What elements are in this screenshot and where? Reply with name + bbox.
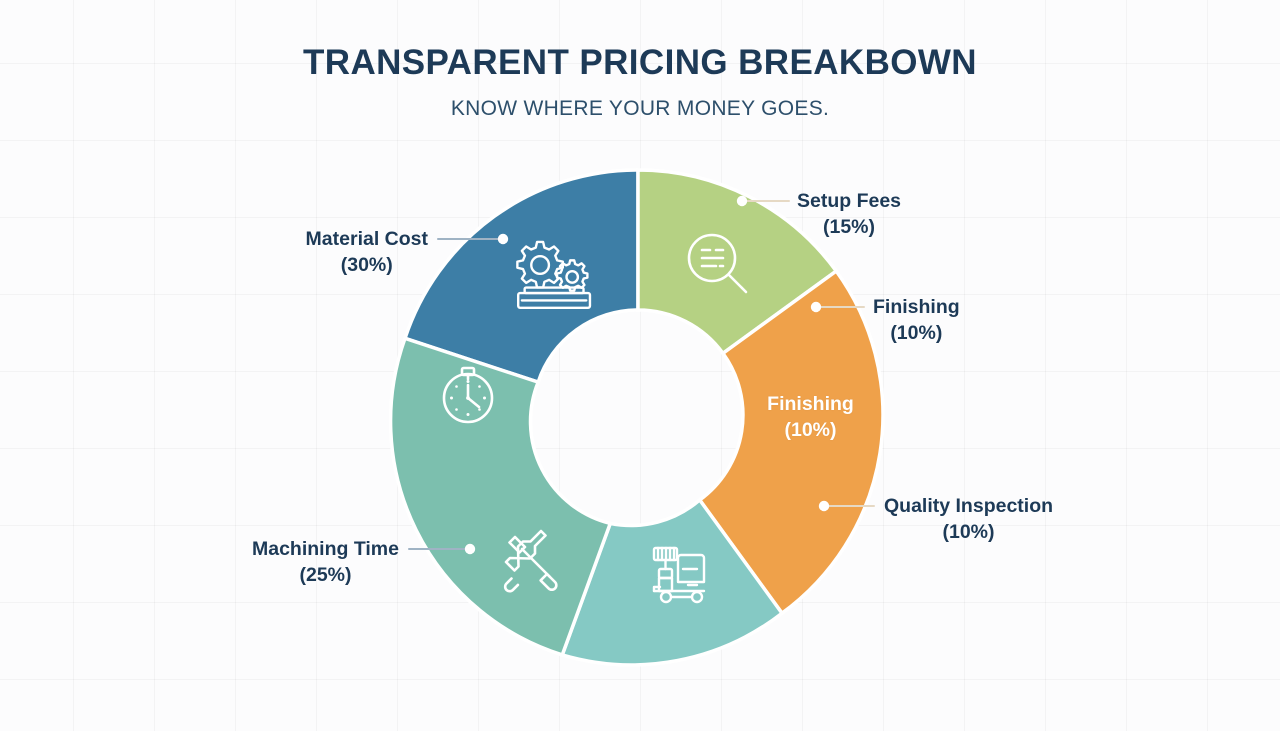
label-machining-time-name: Machining Time bbox=[252, 537, 399, 563]
leader-dot-material-cost bbox=[498, 234, 508, 244]
inside-label-finishing: Finishing (10%) bbox=[733, 392, 888, 443]
label-quality-inspection: Quality Inspection (10%) bbox=[884, 494, 1053, 545]
donut-chart-svg bbox=[0, 0, 1280, 731]
label-machining-time-percent: (25%) bbox=[252, 563, 399, 589]
label-machining-time: Machining Time (25%) bbox=[252, 537, 399, 588]
leader-dot-quality-inspection bbox=[819, 501, 829, 511]
label-material-cost: Material Cost (30%) bbox=[306, 227, 428, 278]
label-quality-inspection-percent: (10%) bbox=[884, 520, 1053, 546]
inside-label-finishing-percent: (10%) bbox=[733, 418, 888, 444]
leader-dot-machining-time bbox=[465, 544, 475, 554]
segment-machining-time[interactable] bbox=[391, 338, 611, 655]
donut-chart: Material Cost (30%) Machining Time (25%)… bbox=[0, 0, 1280, 731]
inside-label-finishing-name: Finishing bbox=[733, 392, 888, 418]
label-material-cost-name: Material Cost bbox=[306, 227, 428, 253]
label-finishing: Finishing (10%) bbox=[873, 295, 960, 346]
label-setup-fees: Setup Fees (15%) bbox=[797, 189, 901, 240]
label-material-cost-percent: (30%) bbox=[306, 253, 428, 279]
label-setup-fees-percent: (15%) bbox=[797, 215, 901, 241]
leader-dot-setup-fees bbox=[737, 196, 747, 206]
label-finishing-name: Finishing bbox=[873, 295, 960, 321]
label-quality-inspection-name: Quality Inspection bbox=[884, 494, 1053, 520]
label-finishing-percent: (10%) bbox=[873, 321, 960, 347]
leader-dot-finishing bbox=[811, 302, 821, 312]
label-setup-fees-name: Setup Fees bbox=[797, 189, 901, 215]
